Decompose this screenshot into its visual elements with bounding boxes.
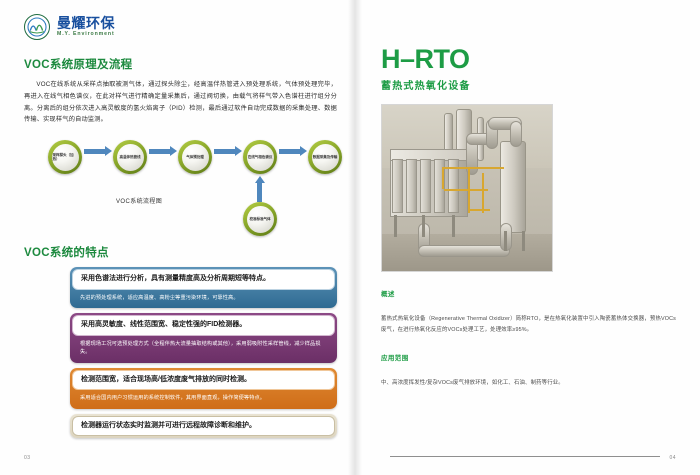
flow-node-sampling-probe: 采样探头（加热）: [48, 140, 82, 174]
feature-item: 检测范围宽，适合现场高/低浓度废气排放的同时检测。 采用适合国内用户习惯运用的系…: [70, 368, 337, 409]
flow-node-label: 校准标准气体: [250, 217, 271, 221]
flow-node-pretreatment: 气体预处理: [178, 140, 212, 174]
feature-item: 采用高灵敏度、线性范围宽、稳定性强的FID检测器。 根据现场工况可选预处理方式（…: [70, 313, 337, 363]
flow-arrow-2: [149, 149, 171, 154]
flow-diagram-caption: VOC系统流程图: [116, 196, 162, 205]
flow-node-label: 高温伴热管线: [120, 155, 141, 159]
product-subtitle: 蓄热式热氧化设备: [381, 77, 676, 92]
right-page: H–RTO 蓄热式热氧化设备: [355, 0, 700, 475]
section-body-overview: 蓄热式热氧化设备（Regenerative Thermal Oxidizer）简…: [381, 314, 676, 336]
flow-arrow-4: [279, 149, 301, 154]
voc-flow-diagram: 采样探头（加热） 高温伴热管线 气体预处理 在线气相色谱仪 数据采集及传输 校准…: [24, 134, 337, 226]
left-page: 曼耀环保 M.Y. Environment VOC系统原理及流程 VOC在线系统…: [0, 0, 355, 475]
feature-item: 检测器运行状态实时监测并可进行远程故障诊断和维护。: [70, 414, 337, 439]
brochure-spread: 曼耀环保 M.Y. Environment VOC系统原理及流程 VOC在线系统…: [0, 0, 700, 475]
flow-node-label: 气体预处理: [186, 155, 203, 159]
section-title-features: VOC系统的特点: [24, 244, 337, 260]
brand-logo: 曼耀环保 M.Y. Environment: [24, 14, 337, 40]
principle-paragraph: VOC在线系统从采样点抽取被测气体，通过探头除尘，经高温伴热管进入预处理系统，气…: [24, 79, 337, 126]
feature-headline: 检测器运行状态实时监测并可进行远程故障诊断和维护。: [72, 416, 335, 437]
flow-arrow-1: [84, 149, 106, 154]
footer-rule: [390, 456, 660, 457]
circular-mountain-logo-icon: [24, 14, 50, 40]
flow-node-chromatograph: 在线气相色谱仪: [243, 140, 277, 174]
feature-headline: 检测范围宽，适合现场高/低浓度废气排放的同时检测。: [72, 370, 335, 391]
feature-subtext: 采用适合国内用户习惯运用的系统控制软件，其用界面直观，操作简便等特点。: [72, 390, 335, 407]
rto-equipment-photo: [381, 104, 553, 272]
flow-node-heated-line: 高温伴热管线: [113, 140, 147, 174]
flow-arrow-3: [214, 149, 236, 154]
flow-node-label: 数据采集及传输: [313, 155, 337, 159]
feature-headline: 采用高灵敏度、线性范围宽、稳定性强的FID检测器。: [72, 315, 335, 336]
feature-subtext: 根据现场工况可选预处理方式（全程伴热大流量抽取结构或其他），采用弱吸附性采样管线…: [72, 336, 335, 361]
section-title-principle: VOC系统原理及流程: [24, 56, 337, 72]
flow-arrow-calibration: [257, 182, 262, 202]
product-title: H–RTO: [381, 46, 676, 73]
flow-node-label: 采样探头（加热）: [53, 153, 78, 162]
section-heading-application: 应用范围: [381, 352, 676, 364]
brand-name-en: M.Y. Environment: [57, 32, 115, 37]
page-number-right: 04: [669, 455, 676, 461]
section-body-application: 中、高浓度挥发性/复杂VOCs废气排放环境，如化工、石油、制药等行业。: [381, 378, 676, 389]
section-heading-overview: 概述: [381, 288, 676, 300]
feature-subtext: 先进的预处理系统，适应高温度、高粉尘等重污染环境，可靠性高。: [72, 290, 335, 307]
flow-node-label: 在线气相色谱仪: [248, 155, 272, 159]
page-number-left: 03: [24, 455, 31, 461]
brand-name-cn: 曼耀环保: [57, 16, 115, 30]
feature-list: 采用色谱法进行分析，具有测量精度高及分析周期短等特点。 先进的预处理系统，适应高…: [24, 267, 337, 438]
feature-item: 采用色谱法进行分析，具有测量精度高及分析周期短等特点。 先进的预处理系统，适应高…: [70, 267, 337, 308]
flow-node-calibration-gas: 校准标准气体: [243, 202, 277, 236]
feature-headline: 采用色谱法进行分析，具有测量精度高及分析周期短等特点。: [72, 269, 335, 290]
flow-node-data-acquisition: 数据采集及传输: [308, 140, 342, 174]
